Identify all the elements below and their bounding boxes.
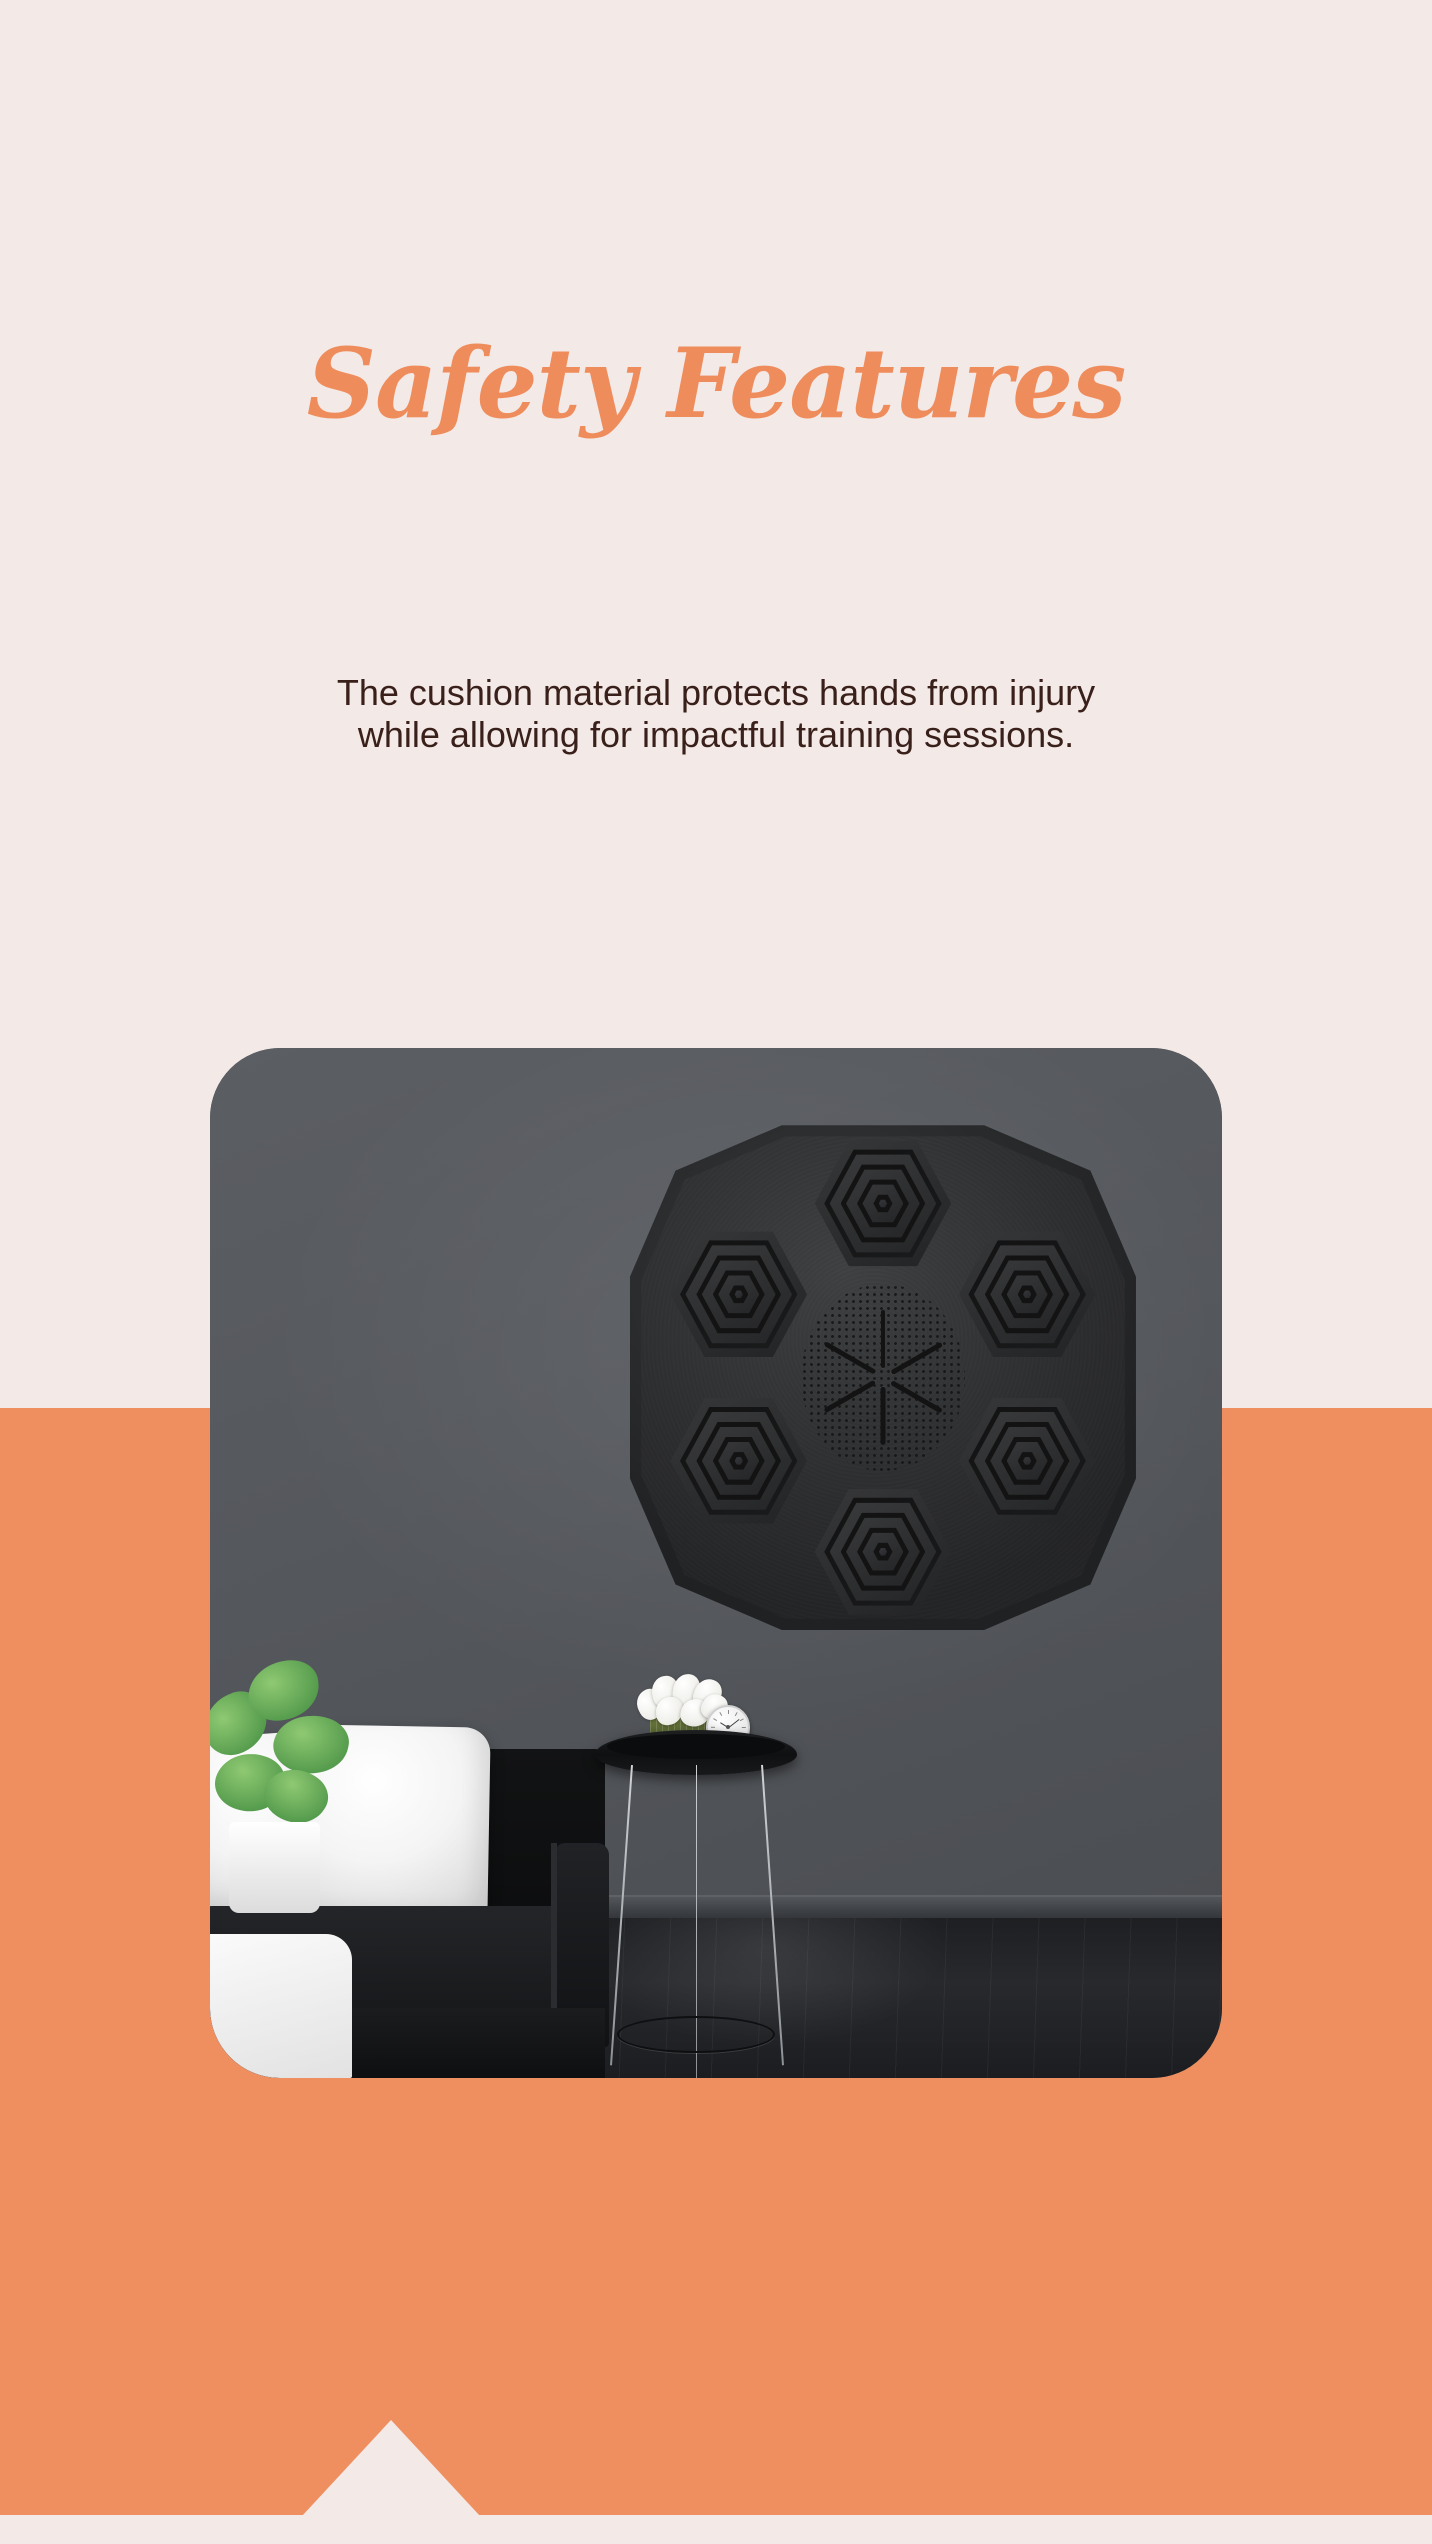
asterisk-spoke [881,1386,886,1444]
pad-target-bottom-right [959,1393,1096,1529]
pad-target-bottom [815,1484,952,1620]
notch-triangle [302,2420,480,2516]
clock-tick [734,1712,737,1716]
pad-target-bottom-left [670,1393,807,1529]
plant-pot [229,1822,320,1913]
pad-center-speaker [812,1297,954,1459]
product-photo-card [210,1048,1222,2078]
clock-center-pin [726,1725,730,1729]
asterisk-spoke [881,1310,886,1368]
clock-tick [728,1710,729,1714]
page-description: The cushion material protects hands from… [216,672,1216,756]
clock-tick [741,1727,745,1728]
clock-tick [713,1718,717,1721]
bottom-notch-arrow [302,2420,480,2516]
clock-tick [711,1727,715,1728]
table-leg-ring [617,2016,775,2053]
clock-tick [719,1712,722,1716]
table-leg [761,1765,784,2065]
table-leg [610,1765,633,2065]
plant [210,1645,362,1913]
boxing-pad [630,1125,1136,1630]
pad-target-top-right [959,1226,1096,1362]
clock-tick [739,1718,743,1721]
table-tray-inner [607,1734,785,1759]
pad-target-top-left [670,1226,807,1362]
side-table [595,1666,797,2078]
white-ottoman [210,1934,352,2078]
plant-leaf [246,1658,323,1724]
pad-target-top [815,1135,952,1271]
page-title: Safety Features [0,332,1432,436]
